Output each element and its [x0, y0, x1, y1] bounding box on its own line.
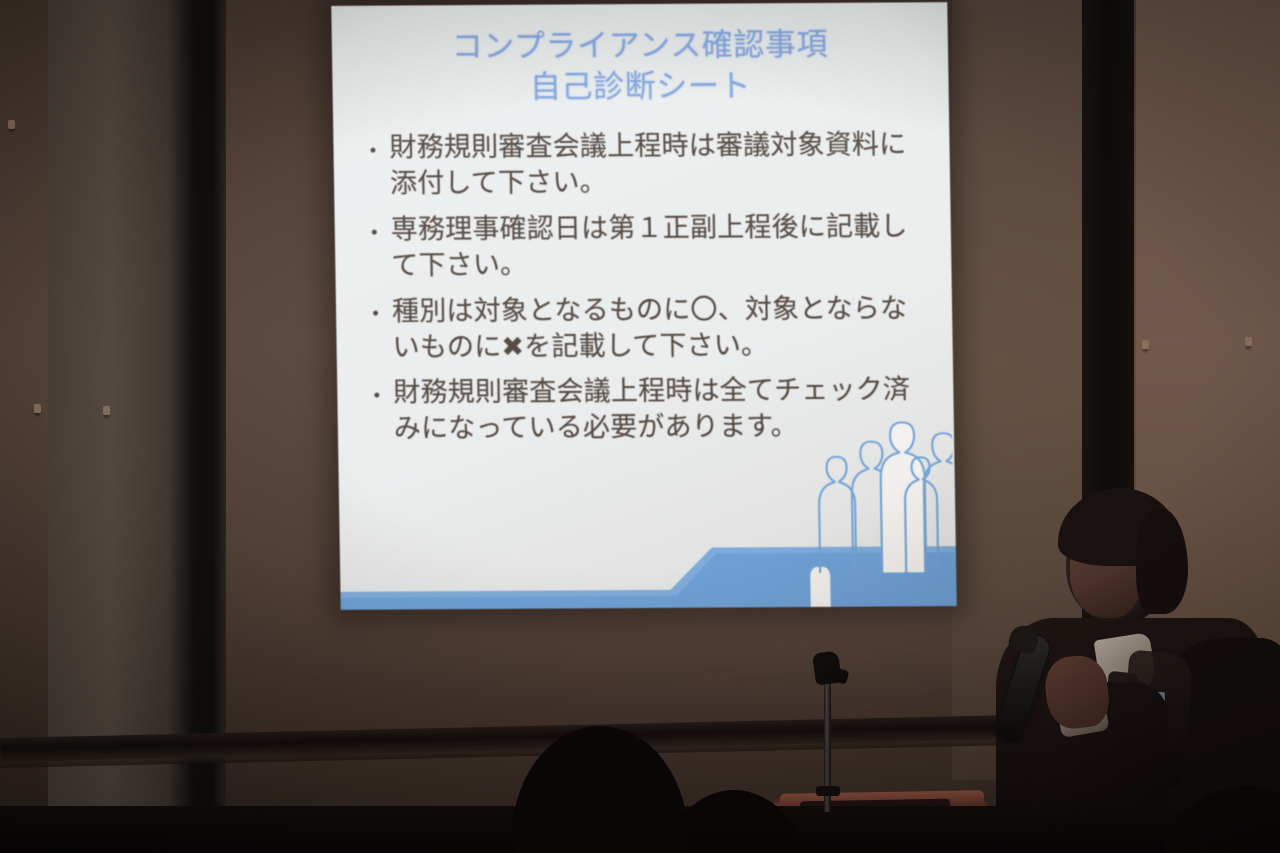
projection-screen: コンプライアンス確認事項 自己診断シート 財務規則審査会議上程時は審議対象資料に…: [331, 2, 957, 610]
bullet-dot-icon: [373, 311, 378, 316]
slide-bullet-item: 専務理事確認日は第１正副上程後に記載して下さい。: [362, 209, 933, 284]
group-of-people-outline-icon: [803, 392, 954, 573]
bullet-text: 財務規則審査会議上程時は審議対象資料に添付して下さい。: [389, 127, 932, 202]
wall-hook-3: [103, 406, 110, 415]
slide-title-line-1: コンプライアンス確認事項: [451, 27, 828, 64]
wall-hook-2: [34, 404, 41, 413]
microphone-stand-base: [816, 786, 840, 796]
presentation-room-photo: コンプライアンス確認事項 自己診断シート 財務規則審査会議上程時は審議対象資料に…: [0, 0, 1280, 853]
wall-hook-1: [8, 120, 15, 129]
bullet-text: 専務理事確認日は第１正副上程後に記載して下さい。: [390, 209, 933, 284]
bullet-dot-icon: [374, 393, 379, 398]
slide-content: コンプライアンス確認事項 自己診断シート 財務規則審査会議上程時は審議対象資料に…: [331, 2, 957, 610]
slide-bullet-item: 財務規則審査会議上程時は審議対象資料に添付して下さい。: [361, 127, 932, 202]
bullet-dot-icon: [370, 147, 375, 152]
wall-hook-5: [1245, 337, 1252, 346]
slide-surface: コンプライアンス確認事項 自己診断シート 財務規則審査会議上程時は審議対象資料に…: [331, 2, 957, 610]
slide-title-line-2: 自己診断シート: [332, 65, 949, 110]
bullet-text: 種別は対象となるものに〇、対象とならないものに✖を記載して下さい。: [392, 291, 935, 366]
curtain-left-fold: [168, 0, 226, 853]
presenter-hair-side: [1136, 508, 1188, 614]
slide-title: コンプライアンス確認事項 自己診断シート: [332, 24, 949, 110]
wall-hook-4: [1142, 340, 1149, 349]
bullet-dot-icon: [372, 229, 377, 234]
slide-bullet-item: 種別は対象となるものに〇、対象とならないものに✖を記載して下さい。: [364, 291, 935, 366]
